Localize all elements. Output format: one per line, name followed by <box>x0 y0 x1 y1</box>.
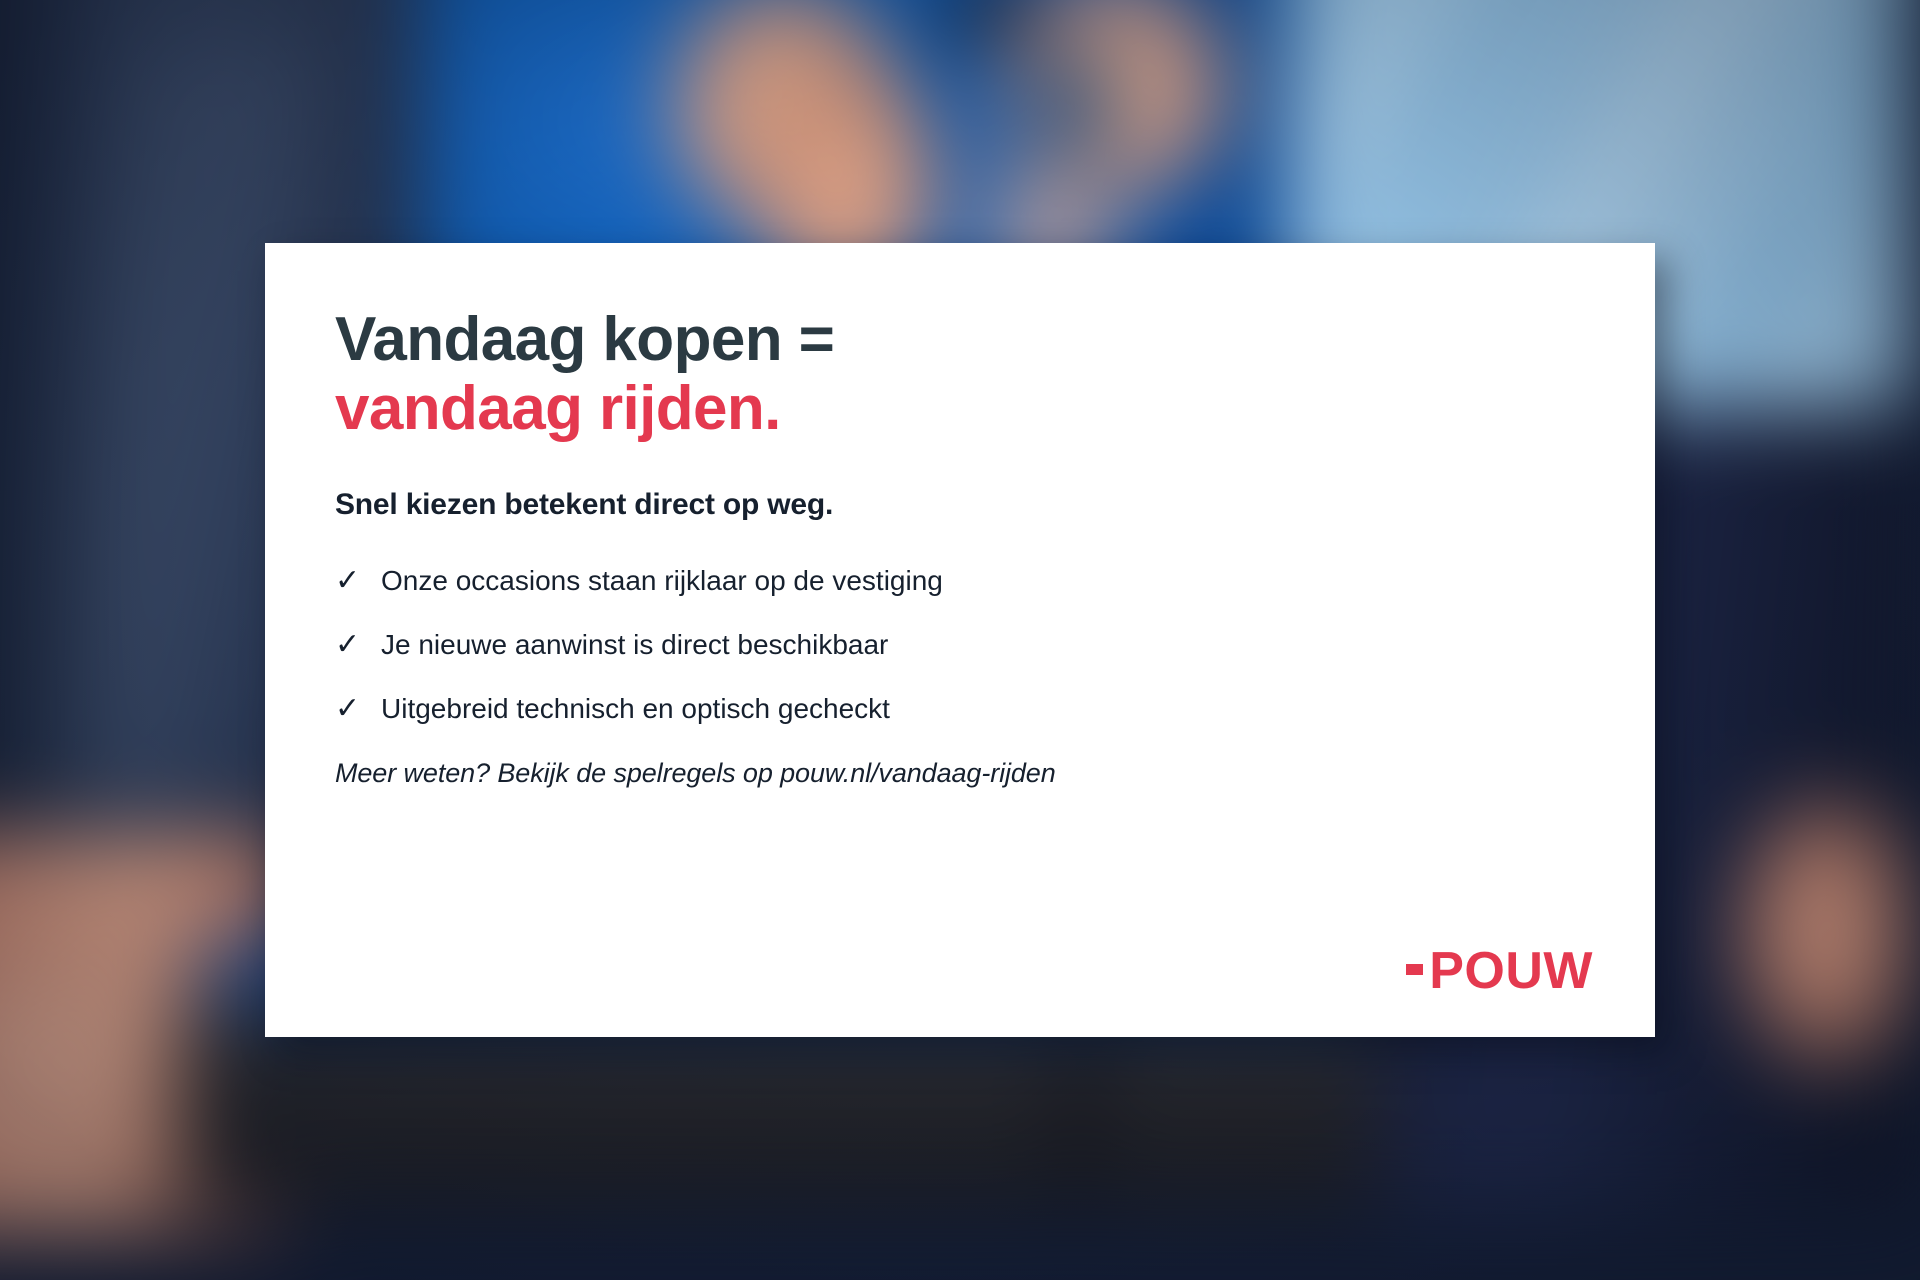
list-item: ✓ Onze occasions staan rijklaar op de ve… <box>335 566 1585 596</box>
promo-card-content: Vandaag kopen = vandaag rijden. Snel kie… <box>265 243 1655 789</box>
poster-canvas: Vandaag kopen = vandaag rijden. Snel kie… <box>0 0 1920 1280</box>
check-icon: ✓ <box>335 566 361 596</box>
list-item-label: Uitgebreid technisch en optisch gecheckt <box>381 695 890 723</box>
check-icon: ✓ <box>335 630 361 660</box>
benefits-list: ✓ Onze occasions staan rijklaar op de ve… <box>335 566 1585 724</box>
pouw-logo[interactable]: POUW <box>1406 945 1593 997</box>
headline-line-1: Vandaag kopen = <box>335 305 1585 374</box>
list-item-label: Onze occasions staan rijklaar op de vest… <box>381 567 943 595</box>
promo-card: Vandaag kopen = vandaag rijden. Snel kie… <box>265 243 1655 1037</box>
list-item: ✓ Uitgebreid technisch en optisch gechec… <box>335 694 1585 724</box>
footnote-link[interactable]: Meer weten? Bekijk de spelregels op pouw… <box>335 758 1585 789</box>
subheadline: Snel kiezen betekent direct op weg. <box>335 488 1585 522</box>
list-item: ✓ Je nieuwe aanwinst is direct beschikba… <box>335 630 1585 660</box>
check-icon: ✓ <box>335 694 361 724</box>
logo-wordmark: POUW <box>1429 945 1593 997</box>
page-title: Vandaag kopen = vandaag rijden. <box>335 305 1585 444</box>
list-item-label: Je nieuwe aanwinst is direct beschikbaar <box>381 631 888 659</box>
dash-icon <box>1406 964 1423 975</box>
headline-line-2: vandaag rijden. <box>335 374 1585 443</box>
